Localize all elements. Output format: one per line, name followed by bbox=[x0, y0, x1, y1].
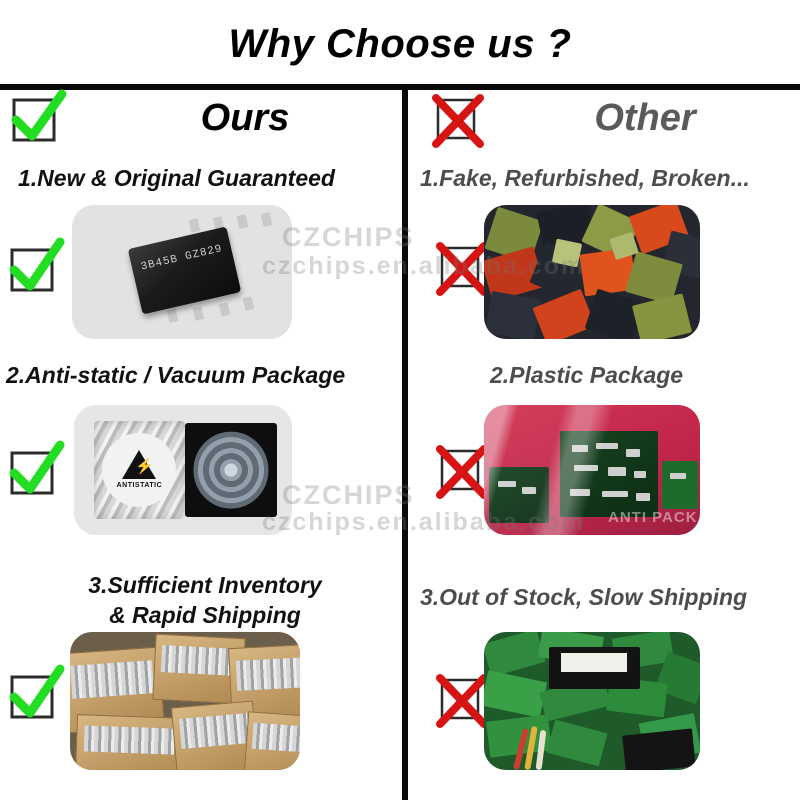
esd-warning-icon: ⚡ bbox=[122, 450, 156, 479]
check-icon-heading-left bbox=[10, 92, 64, 146]
row-1-title-right: 1.Fake, Refurbished, Broken... bbox=[420, 163, 800, 193]
antistatic-bag-photo: ⚡ ANTISTATIC bbox=[74, 405, 292, 535]
ic-marking-text: 3B45B GZ829 bbox=[131, 241, 233, 276]
row-3-title-right: 3.Out of Stock, Slow Shipping bbox=[420, 582, 800, 612]
column-heading-ours: Ours bbox=[120, 92, 370, 144]
row-2-title-left: 2.Anti-static / Vacuum Package bbox=[6, 360, 396, 390]
antistatic-label: ANTISTATIC bbox=[117, 482, 163, 489]
why-choose-us-infographic: Why Choose us ? Ours Other 1.New & Origi… bbox=[0, 0, 800, 800]
scrap-processors-photo bbox=[484, 205, 700, 339]
cross-icon-row-3 bbox=[436, 672, 490, 726]
row-2-title-right: 2.Plastic Package bbox=[490, 360, 790, 390]
watermark-brand-1: CZCHIPS bbox=[282, 222, 415, 253]
header-divider bbox=[0, 84, 800, 90]
check-icon-row-3 bbox=[8, 665, 62, 719]
warehouse-boxes-photo bbox=[70, 632, 300, 770]
cross-icon-heading-right bbox=[432, 92, 486, 146]
plastic-bag-overlay-text: ANTI PACK bbox=[608, 509, 698, 526]
plastic-bag-photo: ANTI PACK bbox=[484, 405, 700, 535]
column-divider bbox=[402, 90, 408, 800]
row-3-title-left: 3.Sufficient Inventory & Rapid Shipping bbox=[40, 570, 370, 630]
cross-icon-row-2 bbox=[436, 443, 490, 497]
row-1-title-left: 1.New & Original Guaranteed bbox=[18, 163, 388, 193]
page-title: Why Choose us ? bbox=[0, 18, 800, 70]
ic-chip-photo: 3B45B GZ829 bbox=[72, 205, 292, 339]
check-icon-row-2 bbox=[8, 443, 62, 497]
pcb-scrap-pile-photo bbox=[484, 632, 700, 770]
check-icon-row-1 bbox=[8, 240, 62, 294]
watermark-brand-2: CZCHIPS bbox=[282, 480, 415, 511]
column-heading-other: Other bbox=[520, 92, 770, 144]
cross-icon-row-1 bbox=[436, 240, 490, 294]
